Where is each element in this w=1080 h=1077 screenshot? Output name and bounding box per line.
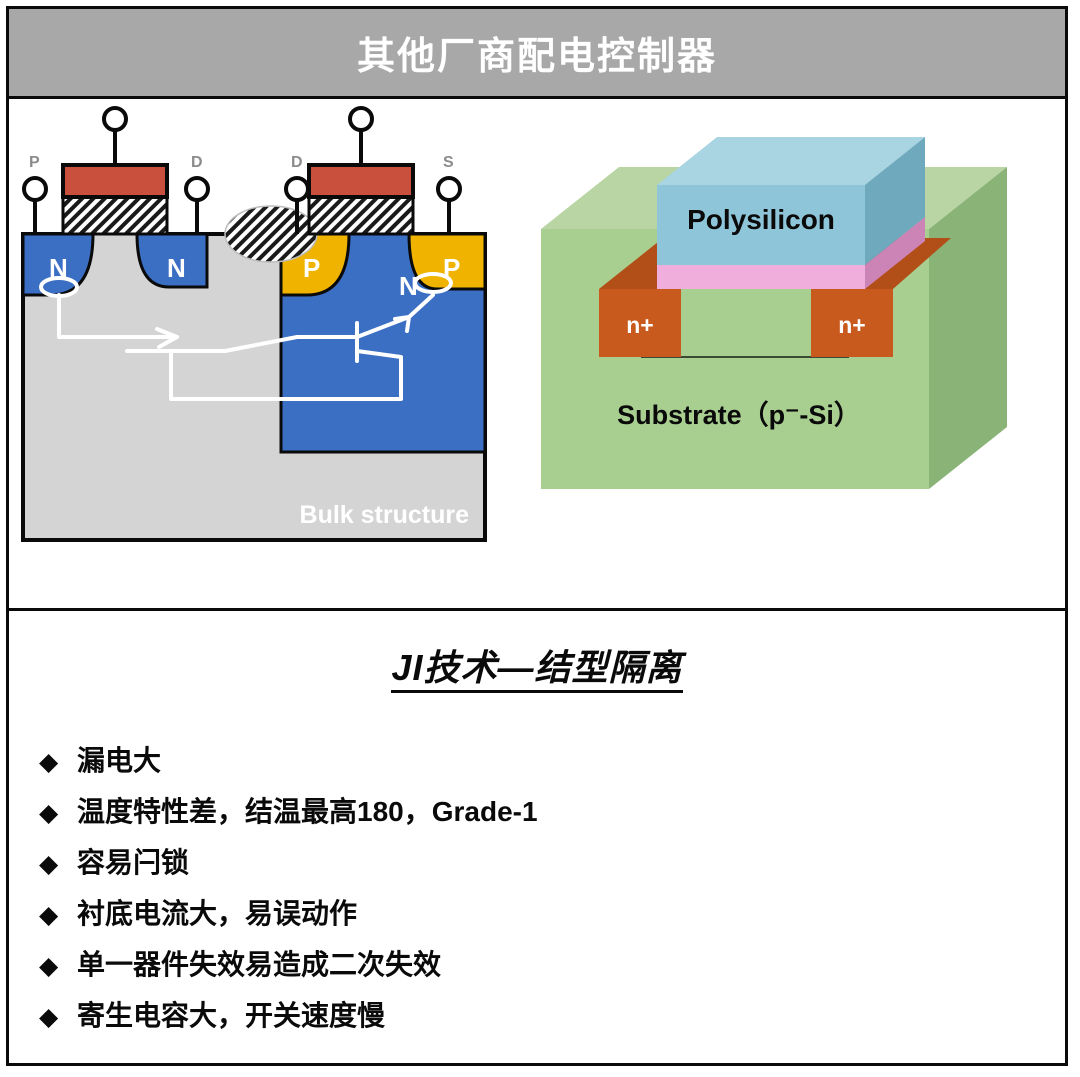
right-gate-oxide <box>309 196 413 234</box>
page-title: 其他厂商配电控制器 <box>357 25 717 80</box>
left-gate-terminal <box>104 108 126 130</box>
feature-list: ◆ 漏电大 ◆ 温度特性差，结温最高180，Grade-1 ◆ 容易闩锁 ◆ 衬… <box>31 739 1065 1045</box>
s-terminal-circle <box>438 178 460 200</box>
list-item-label: 衬底电流大，易误动作 <box>77 892 357 932</box>
polysilicon-label: Polysilicon <box>687 204 835 235</box>
list-item-label: 漏电大 <box>77 739 161 779</box>
section-title-text: JI技术—结型隔离 <box>391 647 682 693</box>
d-terminal-circle-right <box>286 178 308 200</box>
slide-header: 其他厂商配电控制器 <box>9 9 1065 99</box>
list-item: ◆ 温度特性差，结温最高180，Grade-1 <box>31 790 1065 841</box>
bulk-structure-label: Bulk structure <box>300 501 470 529</box>
p-terminal-circle <box>24 178 46 200</box>
region-label-n-left-2: N <box>167 253 186 283</box>
list-item: ◆ 寄生电容大，开关速度慢 <box>31 994 1065 1045</box>
right-gate-metal <box>309 165 413 197</box>
diamond-bullet-icon: ◆ <box>31 798 77 828</box>
list-item-label: 容易闩锁 <box>77 841 189 881</box>
region-label-p-right-1: P <box>303 253 320 283</box>
diamond-bullet-icon: ◆ <box>31 951 77 981</box>
bullets-panel: JI技术—结型隔离 ◆ 漏电大 ◆ 温度特性差，结温最高180，Grade-1 … <box>9 611 1065 1063</box>
list-item: ◆ 容易闩锁 <box>31 841 1065 892</box>
d-terminal-circle-left <box>186 178 208 200</box>
nplus-right-label: n+ <box>838 312 865 338</box>
diagram-panel: P D D S N N P P N <box>9 99 1065 611</box>
gate-oxide-front <box>657 265 865 289</box>
list-item-label: 寄生电容大，开关速度慢 <box>77 994 385 1034</box>
list-item-label: 温度特性差，结温最高180，Grade-1 <box>77 790 538 830</box>
mosfet-3d-diagram: Polysilicon n+ n+ Substrate（p⁻-Si） <box>529 99 1074 607</box>
substrate-label: Substrate（p⁻-Si） <box>617 400 861 430</box>
terminal-label-d-left: D <box>191 154 203 171</box>
list-item-label: 单一器件失效易造成二次失效 <box>77 943 441 983</box>
nplus-left-label: n+ <box>626 312 653 338</box>
list-item: ◆ 漏电大 <box>31 739 1065 790</box>
list-item: ◆ 单一器件失效易造成二次失效 <box>31 943 1065 994</box>
terminal-label-p-left: P <box>29 154 40 171</box>
diamond-bullet-icon: ◆ <box>31 900 77 930</box>
list-item: ◆ 衬底电流大，易误动作 <box>31 892 1065 943</box>
diamond-bullet-icon: ◆ <box>31 1002 77 1032</box>
diamond-bullet-icon: ◆ <box>31 747 77 777</box>
slide-frame: 其他厂商配电控制器 <box>6 6 1068 1066</box>
diamond-bullet-icon: ◆ <box>31 849 77 879</box>
left-gate-oxide <box>63 196 167 234</box>
section-title: JI技术—结型隔离 <box>9 639 1065 691</box>
terminal-label-s: S <box>443 154 454 171</box>
left-gate-metal <box>63 165 167 197</box>
right-gate-terminal <box>350 108 372 130</box>
terminal-label-d-right: D <box>291 154 303 171</box>
cross-section-diagram: P D D S N N P P N <box>9 99 529 607</box>
